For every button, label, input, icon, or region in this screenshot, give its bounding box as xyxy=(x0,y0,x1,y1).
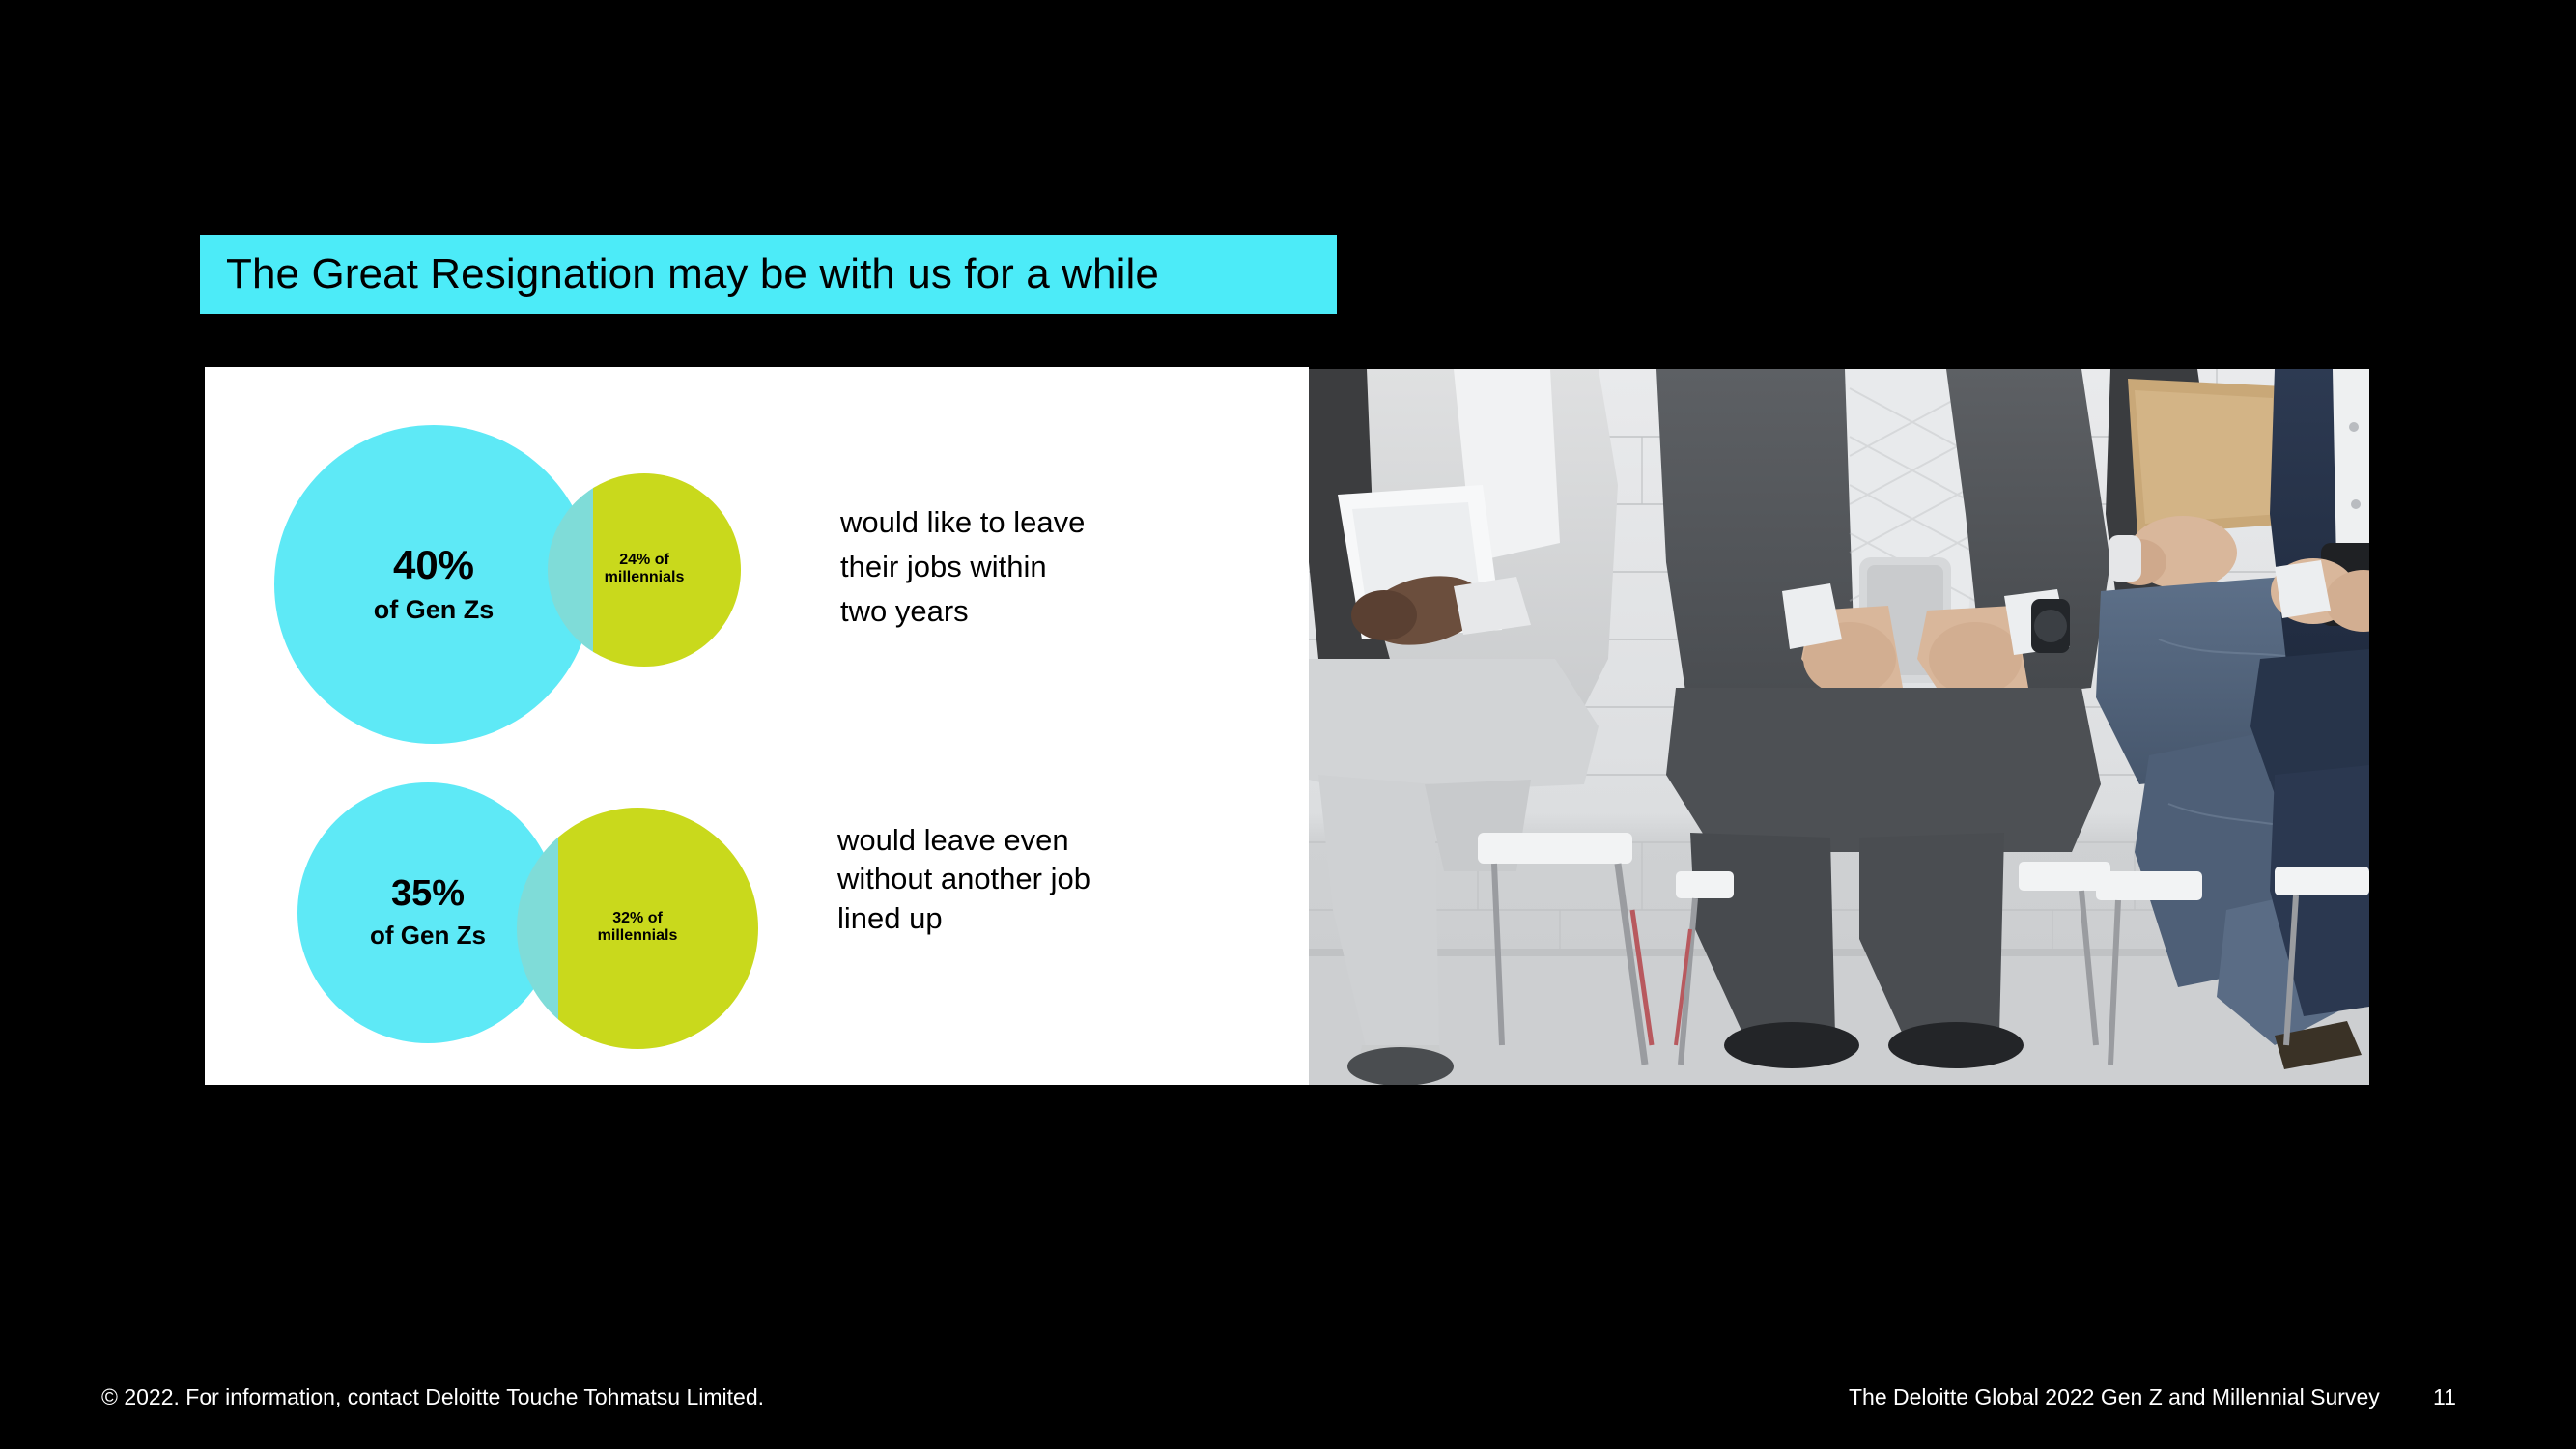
gen-z-label: of Gen Zs xyxy=(370,922,486,951)
gen-z-percent: 35% xyxy=(391,875,465,914)
stat-description: would like to leave their jobs within tw… xyxy=(840,500,1246,634)
content-panel: 40% of Gen Zs 24% of millennials would l… xyxy=(205,367,1309,1085)
slide-title-banner: The Great Resignation may be with us for… xyxy=(200,235,1337,314)
millennial-percent: 24% of xyxy=(619,553,669,569)
millennial-circle-text: 24% of millennials xyxy=(548,473,741,667)
people-waiting-photo xyxy=(1309,369,2369,1085)
millennial-percent: 32% of xyxy=(612,911,663,927)
gen-z-percent: 40% xyxy=(393,544,474,586)
page-title: The Great Resignation may be with us for… xyxy=(226,253,1159,296)
stat-description-line: would like to leave xyxy=(840,500,1246,545)
footer-source: The Deloitte Global 2022 Gen Z and Mille… xyxy=(1849,1384,2380,1410)
stat-description-line: two years xyxy=(840,589,1246,634)
stat-description-line: without another job xyxy=(837,860,1243,898)
footer-copyright: © 2022. For information, contact Deloitt… xyxy=(101,1384,764,1410)
footer-page-number: 11 xyxy=(2433,1384,2456,1410)
stat-description: would leave even without another job lin… xyxy=(837,821,1243,938)
millennial-label: millennials xyxy=(598,927,678,945)
stat-row: 35% of Gen Zs 32% of millennials would l… xyxy=(205,782,1309,1072)
stat-description-line: would leave even xyxy=(837,821,1243,860)
gen-z-circle: 40% of Gen Zs xyxy=(274,425,593,744)
slide-canvas: The Great Resignation may be with us for… xyxy=(0,0,2576,1449)
millennial-label: millennials xyxy=(605,569,685,586)
photo-illustration xyxy=(1309,369,2369,1085)
gen-z-label: of Gen Zs xyxy=(374,595,495,625)
stat-description-line: their jobs within xyxy=(840,545,1246,589)
stat-row: 40% of Gen Zs 24% of millennials would l… xyxy=(205,425,1309,734)
millennial-circle-text: 32% of millennials xyxy=(517,808,758,1049)
stat-description-line: lined up xyxy=(837,899,1243,938)
